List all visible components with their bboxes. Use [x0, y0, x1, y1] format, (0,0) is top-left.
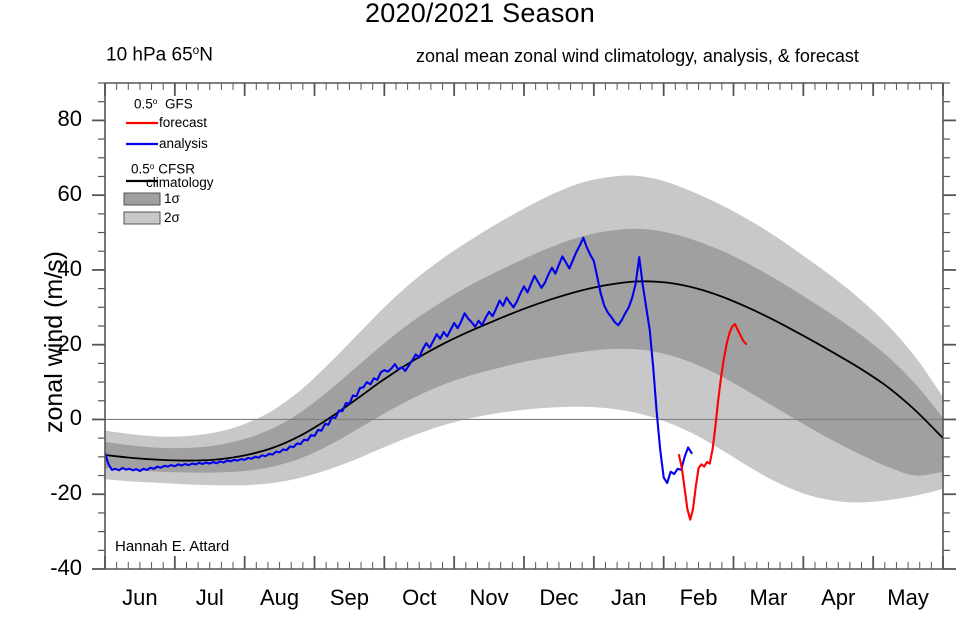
panel-latitude-hemisphere: N: [199, 44, 213, 65]
legend-label-analysis: analysis: [159, 136, 208, 151]
legend-gfs-resolution: 0.5: [134, 97, 153, 112]
y-tick-label: 0: [12, 405, 82, 431]
degree-symbol-icon: o: [153, 96, 158, 106]
y-tick-label: -40: [12, 555, 82, 581]
chart-canvas: [0, 0, 960, 621]
legend-label-climatology: climatology: [146, 175, 214, 190]
legend-label-sigma2: 2σ: [164, 210, 180, 225]
figure-container: 2020/2021 Season 10 hPa 65oN zonal mean …: [0, 0, 960, 621]
y-tick-label: 20: [12, 331, 82, 357]
y-tick-label: 80: [12, 106, 82, 132]
author-credit: Hannah E. Attard: [115, 538, 229, 555]
legend-label-sigma1: 1σ: [164, 191, 180, 206]
legend-gfs-model: GFS: [165, 97, 193, 112]
legend-label-forecast: forecast: [159, 115, 207, 130]
panel-latitude-value: 65: [172, 44, 193, 65]
y-tick-label: 40: [12, 256, 82, 282]
panel-subtitle: zonal mean zonal wind climatology, analy…: [416, 46, 859, 67]
legend-group-gfs-title: 0.5o GFS: [134, 96, 193, 112]
x-tick-label: May: [863, 585, 953, 611]
panel-pressure-label: 10 hPa: [106, 44, 166, 65]
degree-symbol-icon: o: [150, 161, 155, 171]
y-tick-label: 60: [12, 181, 82, 207]
y-tick-label: -20: [12, 480, 82, 506]
panel-level-label: 10 hPa 65oN: [106, 44, 213, 66]
page-title: 2020/2021 Season: [0, 0, 960, 29]
